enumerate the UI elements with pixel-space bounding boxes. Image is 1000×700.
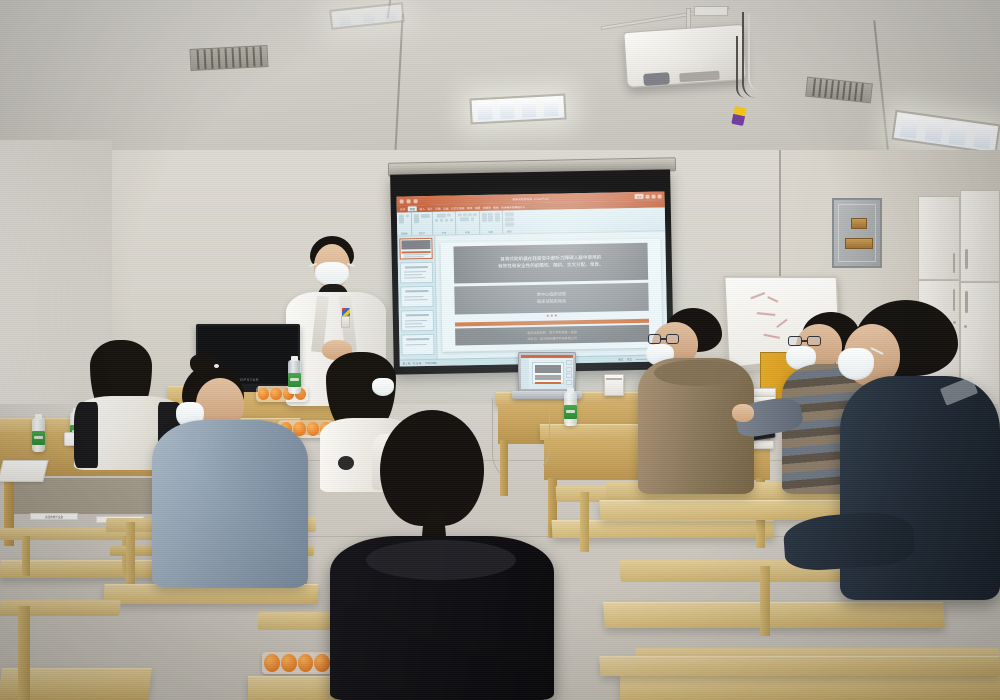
maximize-icon[interactable] xyxy=(652,194,656,198)
attendee-fleece-torso xyxy=(152,420,308,588)
ribbon-group-label: 段落 xyxy=(465,230,469,234)
undo-icon[interactable] xyxy=(407,199,411,203)
font-size-box[interactable] xyxy=(447,213,451,217)
notes-button[interactable]: 备注 xyxy=(618,357,623,361)
bench-left-far-post-a xyxy=(22,536,30,576)
ribbon-group-paragraph[interactable]: 段落 xyxy=(456,211,480,234)
account-label[interactable]: 登录 xyxy=(635,194,644,199)
font-color-icon[interactable] xyxy=(449,218,453,222)
slide-thumbnail-pane[interactable] xyxy=(397,236,437,360)
tab-slideshow[interactable]: 幻灯片放映 xyxy=(451,206,465,210)
slide-footer-placeholder[interactable]: 临床试验机构：某大学附属第一医院 申办方：某市助听器件科技有限公司 xyxy=(455,325,648,345)
ceiling-mounted-projector xyxy=(623,24,747,88)
ribbon-group-label: 字体 xyxy=(442,231,446,235)
tab-view[interactable]: 视图 xyxy=(475,205,480,209)
attendee-khaki-hood xyxy=(654,360,740,386)
attendee-white-jacket-dark-sleeve xyxy=(74,402,98,468)
small-device-box xyxy=(604,374,624,396)
panel-plate-lower xyxy=(845,238,873,249)
italic-icon[interactable] xyxy=(439,218,443,222)
comments-button[interactable]: 批注 xyxy=(627,357,632,361)
laptop-screen xyxy=(521,355,573,389)
projector-lens xyxy=(643,72,670,86)
arrange-icon[interactable] xyxy=(488,212,493,221)
document-title: 临床试验启动会 - PowerPoint xyxy=(512,196,548,201)
classroom-photo: 临床试验启动会 - PowerPoint 登录 文件 开始 插入 设计 切换 xyxy=(0,0,1000,700)
numbering-icon[interactable] xyxy=(463,213,467,217)
cabinet-door-upper-right[interactable] xyxy=(960,190,1000,282)
ceiling-panel-light-1 xyxy=(469,94,566,125)
font-name-box[interactable] xyxy=(437,213,446,217)
water-bottle-left-5[interactable] xyxy=(32,418,45,452)
projection-screen: 临床试验启动会 - PowerPoint 登录 文件 开始 插入 设计 切换 xyxy=(390,169,674,374)
quick-styles-icon[interactable] xyxy=(494,212,499,221)
attendee-white-coat-face-mask xyxy=(372,378,394,396)
ribbon-group-label: 剪贴板 xyxy=(401,231,408,235)
presenter-laptop[interactable] xyxy=(518,352,576,392)
slide-subtitle-line-2: 临床试验启动会 xyxy=(537,298,566,305)
ribbon-group-label: 编辑 xyxy=(507,229,511,233)
tab-transitions[interactable]: 切换 xyxy=(435,206,440,210)
air-vent-left xyxy=(189,45,268,71)
underline-icon[interactable] xyxy=(444,218,448,222)
cabinet-door-upper-left[interactable] xyxy=(918,196,960,280)
attendee-navy-face-mask xyxy=(838,348,874,380)
slide-title-line-2: 有效性和安全性的前瞻性、随机、交叉分配、单盲、 xyxy=(498,262,604,271)
find-icon[interactable] xyxy=(504,212,513,216)
desk-equipment-label-1: 多媒体教学设备 xyxy=(30,513,78,520)
save-icon[interactable] xyxy=(400,199,404,203)
ribbon-group-label: 绘图 xyxy=(488,230,492,234)
select-icon[interactable] xyxy=(505,222,514,226)
bench-foreground-right-slat xyxy=(599,656,1000,676)
water-bottle-presenter-desk[interactable] xyxy=(564,392,577,426)
replace-icon[interactable] xyxy=(504,217,513,221)
tab-insert[interactable]: 插入 xyxy=(419,207,424,211)
slide-thumbnail-3[interactable] xyxy=(400,286,433,308)
slide-thumbnail-1[interactable] xyxy=(399,238,432,260)
bench-foreground-left-post xyxy=(18,606,30,700)
bench-foreground-right-seat xyxy=(620,672,1000,700)
tab-file[interactable]: 文件 xyxy=(400,207,405,211)
ribbon-group-label: 幻灯片 xyxy=(419,231,426,235)
presenter-id-badge xyxy=(341,316,350,328)
align-center-icon[interactable] xyxy=(473,213,477,217)
align-left-icon[interactable] xyxy=(468,213,472,217)
projector-exhaust-vent xyxy=(679,71,720,83)
panel-plate-upper xyxy=(851,218,867,229)
tell-me-search[interactable]: 告诉我你想要做什么 xyxy=(501,205,525,209)
presenter-face-mask xyxy=(315,262,349,286)
attendee-right-khaki-jacket xyxy=(638,308,754,494)
ribbon-group-clipboard[interactable]: 剪贴板 xyxy=(397,212,412,235)
current-slide[interactable]: 耳背式助听器在轻度至中度听力障碍人群中使用的 有效性和安全性的前瞻性、随机、交叉… xyxy=(441,238,663,352)
paste-icon[interactable] xyxy=(399,214,404,223)
language-indicator[interactable]: 中文(中国) xyxy=(425,361,436,365)
attendee-striped-hand xyxy=(732,404,754,422)
tab-addins[interactable]: 加载项 xyxy=(483,205,491,209)
projector-cable-black-2 xyxy=(736,36,746,98)
attendee-hoodie-hood xyxy=(366,540,516,580)
ribbon-group-drawing[interactable]: 绘图 xyxy=(479,211,502,234)
laptop-slide-preview xyxy=(532,362,564,384)
powerpoint-body: 耳背式助听器在轻度至中度听力障碍人群中使用的 有效性和安全性的前瞻性、随机、交叉… xyxy=(397,231,667,359)
bench-right-row1-post-a xyxy=(580,492,589,552)
projector-cable-white xyxy=(748,14,766,92)
slide-title-placeholder[interactable]: 耳背式助听器在轻度至中度听力障碍人群中使用的 有效性和安全性的前瞻性、随机、交叉… xyxy=(454,243,648,284)
orange-tray-front xyxy=(262,652,332,674)
laptop-thumbnail-strip xyxy=(566,360,572,385)
tab-design[interactable]: 设计 xyxy=(427,206,432,210)
ribbon-group-font[interactable]: 字体 xyxy=(432,211,456,234)
bold-icon[interactable] xyxy=(434,218,438,222)
slide-thumbnail-2[interactable] xyxy=(400,262,433,284)
line-spacing-icon[interactable] xyxy=(460,217,469,221)
window-controls[interactable]: 登录 xyxy=(635,193,662,199)
slide-decor-dots xyxy=(547,314,557,316)
tab-review[interactable]: 审阅 xyxy=(467,206,472,210)
attendee-left-blue-fleece xyxy=(152,358,308,588)
cut-icon[interactable] xyxy=(405,214,409,218)
new-slide-icon[interactable] xyxy=(414,214,419,223)
attendee-right-navy-sweater xyxy=(840,300,1000,600)
minimize-icon[interactable] xyxy=(646,194,650,198)
tab-animations[interactable]: 动画 xyxy=(443,206,448,210)
attendee-center-black-hoodie xyxy=(330,410,554,700)
attendee-hoodie-hair xyxy=(380,410,484,526)
bench-right-row3-post xyxy=(760,566,770,636)
slide-footer-line-2: 申办方：某市助听器件科技有限公司 xyxy=(527,335,577,341)
tab-home[interactable]: 开始 xyxy=(408,206,417,211)
layout-icon[interactable] xyxy=(420,213,429,217)
electrical-control-panel xyxy=(832,198,882,268)
ribbon-group-editing[interactable]: 编辑 xyxy=(502,210,515,233)
ribbon-group-slides[interactable]: 幻灯片 xyxy=(412,212,433,235)
shapes-icon[interactable] xyxy=(481,212,486,221)
attendee-fleece-hair-tie xyxy=(214,364,219,368)
tab-help[interactable]: 帮助 xyxy=(493,205,498,209)
paper-sheet-left xyxy=(0,460,49,482)
columns-icon[interactable] xyxy=(471,217,475,221)
slide-editing-stage[interactable]: 耳背式助听器在轻度至中度听力障碍人群中使用的 有效性和安全性的前瞻性、随机、交叉… xyxy=(435,231,667,358)
slide-subtitle-placeholder[interactable]: 单中心临床试验 临床试验启动会 xyxy=(455,282,649,314)
powerpoint-window: 临床试验启动会 - PowerPoint 登录 文件 开始 插入 设计 切换 xyxy=(397,191,668,366)
close-icon[interactable] xyxy=(658,194,662,198)
redo-icon[interactable] xyxy=(414,199,418,203)
slide-thumbnail-4[interactable] xyxy=(401,310,434,332)
projector-ceiling-mount xyxy=(694,6,728,16)
bullets-icon[interactable] xyxy=(458,213,462,217)
bench-right-row3-seat xyxy=(603,602,945,628)
bench-right-row2-seat xyxy=(599,500,848,520)
